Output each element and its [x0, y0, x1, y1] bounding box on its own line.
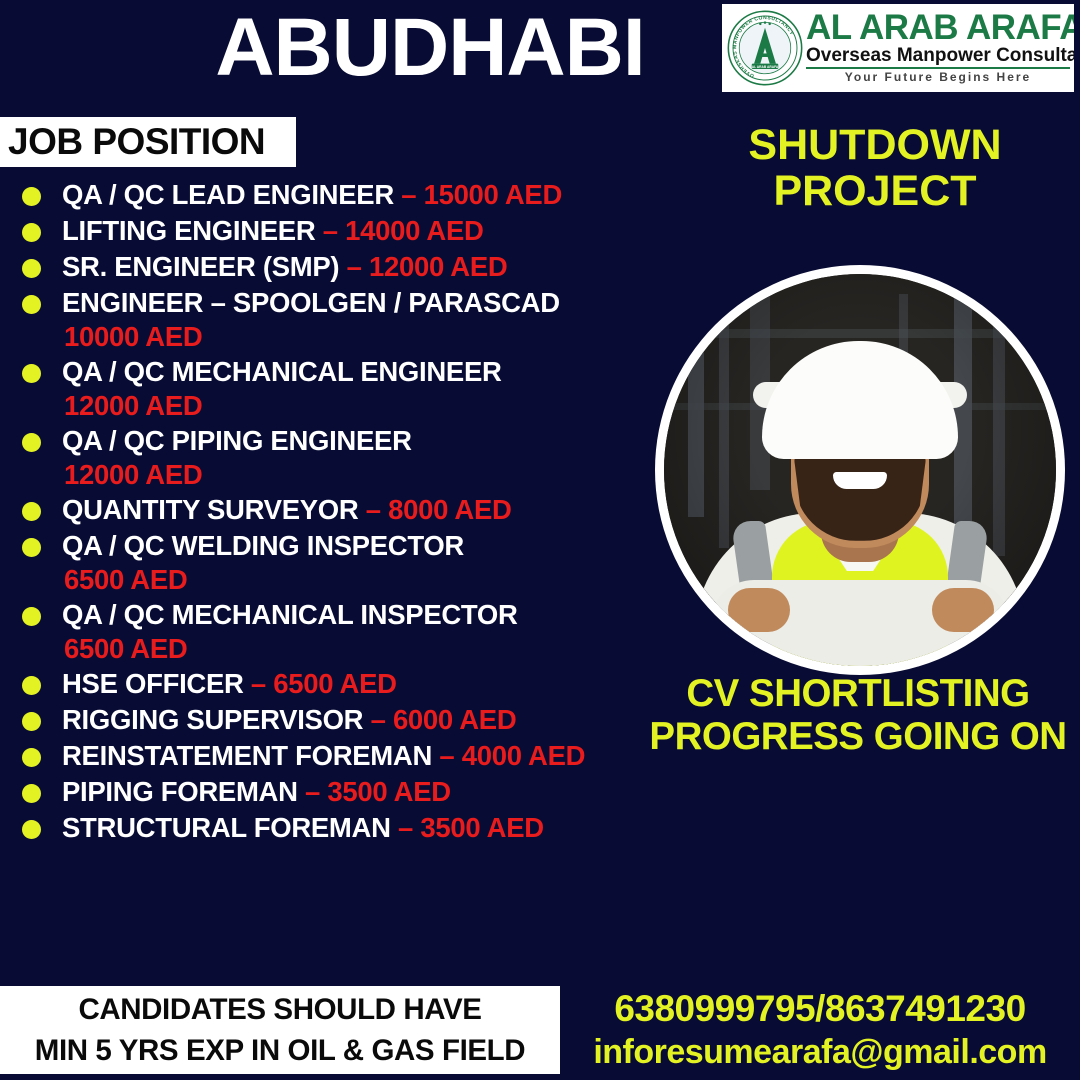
contact-phone[interactable]: 6380999795/8637491230	[614, 987, 1025, 1031]
job-salary: 10000 AED	[62, 320, 674, 353]
company-tagline: Your Future Begins Here	[806, 69, 1070, 85]
job-title-line: REINSTATEMENT FOREMAN – 4000 AED	[62, 739, 674, 773]
job-list-item: QA / QC WELDING INSPECTOR6500 AED	[14, 529, 674, 596]
cv-note-line-2: PROGRESS GOING ON	[636, 715, 1080, 758]
recruitment-poster: ABUDHABI AL ARAB ARAFA OVERSEAS MA	[0, 0, 1080, 1080]
job-title-line: RIGGING SUPERVISOR – 6000 AED	[62, 703, 674, 737]
bullet-icon	[22, 295, 41, 314]
engineer-photo-image	[664, 274, 1056, 666]
bullet-icon	[22, 784, 41, 803]
job-title-line: ENGINEER – SPOOLGEN / PARASCAD	[62, 286, 674, 320]
cv-shortlisting-note: CV SHORTLISTING PROGRESS GOING ON	[636, 672, 1080, 758]
job-title: QA / QC MECHANICAL INSPECTOR	[62, 599, 518, 630]
project-heading-line-1: SHUTDOWN	[680, 122, 1070, 168]
job-title-line: LIFTING ENGINEER – 14000 AED	[62, 214, 674, 248]
job-salary: 6500 AED	[273, 668, 396, 699]
job-title: PIPING FOREMAN	[62, 776, 298, 807]
job-separator: –	[358, 494, 388, 525]
job-title-line: SR. ENGINEER (SMP) – 12000 AED	[62, 250, 674, 284]
job-list-item: RIGGING SUPERVISOR – 6000 AED	[14, 703, 674, 737]
project-heading-line-2: PROJECT	[680, 168, 1070, 214]
company-logo-text: AL ARAB ARAFA Overseas Manpower Consulta…	[804, 11, 1074, 85]
job-list-item: QA / QC MECHANICAL ENGINEER12000 AED	[14, 355, 674, 422]
bullet-icon	[22, 223, 41, 242]
job-title: QA / QC PIPING ENGINEER	[62, 425, 412, 456]
job-separator: –	[363, 704, 393, 735]
job-list-item: STRUCTURAL FOREMAN – 3500 AED	[14, 811, 674, 845]
job-salary: 14000 AED	[345, 215, 483, 246]
job-title-line: QA / QC LEAD ENGINEER – 15000 AED	[62, 178, 674, 212]
job-position-heading: JOB POSITION	[0, 117, 296, 167]
job-title: HSE OFFICER	[62, 668, 244, 699]
requirement-line-1: CANDIDATES SHOULD HAVE	[78, 989, 481, 1030]
cv-note-line-1: CV SHORTLISTING	[636, 672, 1080, 715]
job-salary: 12000 AED	[62, 389, 674, 422]
job-separator: –	[432, 740, 462, 771]
contact-email[interactable]: inforesumearafa@gmail.com	[593, 1031, 1046, 1073]
job-list-item: LIFTING ENGINEER – 14000 AED	[14, 214, 674, 248]
job-title: QA / QC LEAD ENGINEER	[62, 179, 394, 210]
job-title-line: STRUCTURAL FOREMAN – 3500 AED	[62, 811, 674, 845]
contact-panel: 6380999795/8637491230 inforesumearafa@gm…	[560, 980, 1080, 1080]
job-separator: –	[315, 215, 345, 246]
job-separator: –	[339, 251, 369, 282]
bullet-icon	[22, 259, 41, 278]
company-name: AL ARAB ARAFA	[806, 11, 1070, 45]
bullet-icon	[22, 607, 41, 626]
job-salary: 12000 AED	[62, 458, 674, 491]
bullet-icon	[22, 502, 41, 521]
job-title: REINSTATEMENT FOREMAN	[62, 740, 432, 771]
job-list-item: PIPING FOREMAN – 3500 AED	[14, 775, 674, 809]
job-salary: 15000 AED	[424, 179, 562, 210]
engineer-photo	[655, 265, 1065, 675]
job-list-item: REINSTATEMENT FOREMAN – 4000 AED	[14, 739, 674, 773]
job-title-line: QA / QC WELDING INSPECTOR	[62, 529, 674, 563]
bullet-icon	[22, 433, 41, 452]
job-salary: 8000 AED	[388, 494, 511, 525]
company-logo: AL ARAB ARAFA OVERSEAS MANPOWER CONSULTA…	[722, 4, 1074, 92]
page-title: ABUDHABI	[160, 2, 700, 94]
candidate-requirement-panel: CANDIDATES SHOULD HAVE MIN 5 YRS EXP IN …	[0, 986, 560, 1074]
job-salary: 6500 AED	[62, 632, 674, 665]
bullet-icon	[22, 820, 41, 839]
job-title: STRUCTURAL FOREMAN	[62, 812, 391, 843]
job-title: QA / QC MECHANICAL ENGINEER	[62, 356, 502, 387]
job-salary: 3500 AED	[327, 776, 450, 807]
job-list-item: SR. ENGINEER (SMP) – 12000 AED	[14, 250, 674, 284]
job-list-item: ENGINEER – SPOOLGEN / PARASCAD10000 AED	[14, 286, 674, 353]
job-title-line: QA / QC PIPING ENGINEER	[62, 424, 674, 458]
requirement-line-2: MIN 5 YRS EXP IN OIL & GAS FIELD	[35, 1030, 525, 1071]
bullet-icon	[22, 538, 41, 557]
bullet-icon	[22, 676, 41, 695]
job-title-line: QA / QC MECHANICAL INSPECTOR	[62, 598, 674, 632]
bullet-icon	[22, 364, 41, 383]
job-title: QA / QC WELDING INSPECTOR	[62, 530, 464, 561]
bullet-icon	[22, 187, 41, 206]
poster-header: ABUDHABI AL ARAB ARAFA OVERSEAS MA	[0, 0, 1080, 108]
company-badge-icon: AL ARAB ARAFA OVERSEAS MANPOWER CONSULTA…	[726, 9, 804, 87]
job-separator: –	[298, 776, 328, 807]
job-list-item: QUANTITY SURVEYOR – 8000 AED	[14, 493, 674, 527]
job-title: QUANTITY SURVEYOR	[62, 494, 358, 525]
bullet-icon	[22, 748, 41, 767]
job-separator: –	[391, 812, 421, 843]
job-title: SR. ENGINEER (SMP)	[62, 251, 339, 282]
job-salary: 6000 AED	[393, 704, 516, 735]
job-list: QA / QC LEAD ENGINEER – 15000 AEDLIFTING…	[14, 178, 674, 847]
job-title-line: HSE OFFICER – 6500 AED	[62, 667, 674, 701]
job-salary: 12000 AED	[369, 251, 507, 282]
job-title-line: PIPING FOREMAN – 3500 AED	[62, 775, 674, 809]
job-title: ENGINEER – SPOOLGEN / PARASCAD	[62, 287, 560, 318]
project-heading: SHUTDOWN PROJECT	[680, 122, 1070, 214]
job-title: RIGGING SUPERVISOR	[62, 704, 363, 735]
job-salary: 4000 AED	[462, 740, 585, 771]
job-list-item: QA / QC MECHANICAL INSPECTOR6500 AED	[14, 598, 674, 665]
job-salary: 3500 AED	[420, 812, 543, 843]
job-list-item: QA / QC LEAD ENGINEER – 15000 AED	[14, 178, 674, 212]
svg-text:AL ARAB ARAFA: AL ARAB ARAFA	[752, 65, 779, 69]
job-list-item: QA / QC PIPING ENGINEER12000 AED	[14, 424, 674, 491]
job-title-line: QUANTITY SURVEYOR – 8000 AED	[62, 493, 674, 527]
job-title-line: QA / QC MECHANICAL ENGINEER	[62, 355, 674, 389]
job-separator: –	[394, 179, 424, 210]
job-salary: 6500 AED	[62, 563, 674, 596]
job-separator: –	[244, 668, 274, 699]
bullet-icon	[22, 712, 41, 731]
job-title: LIFTING ENGINEER	[62, 215, 315, 246]
company-subtitle: Overseas Manpower Consultancy	[806, 45, 1070, 69]
job-list-item: HSE OFFICER – 6500 AED	[14, 667, 674, 701]
